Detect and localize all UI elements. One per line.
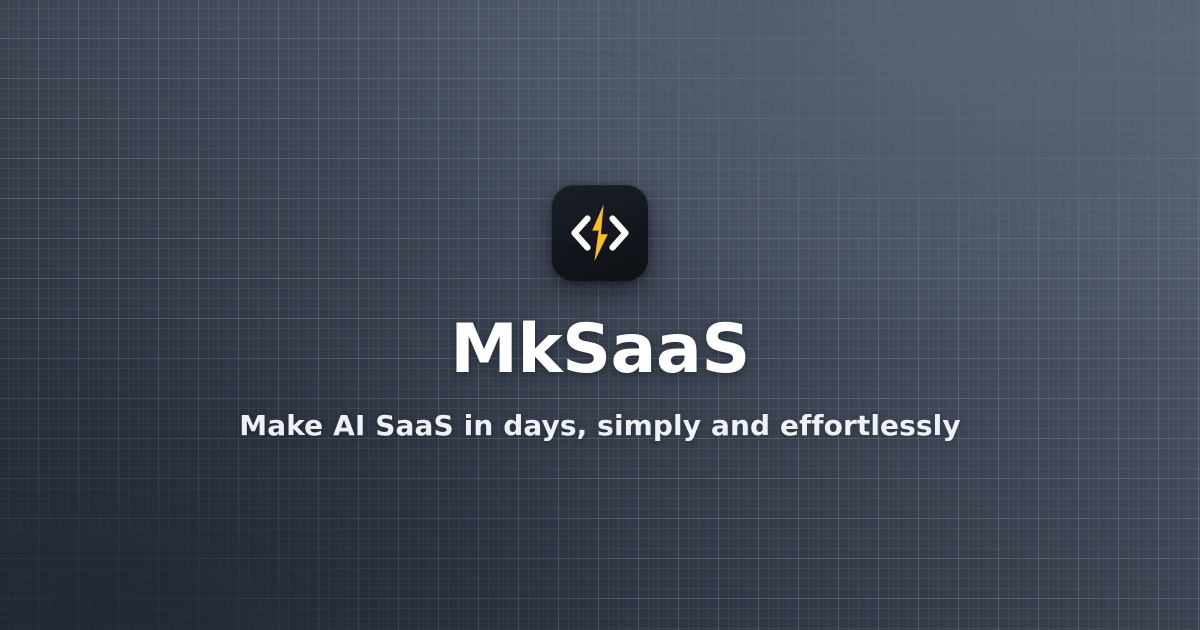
page-title: MkSaaS: [450, 315, 750, 386]
code-brackets-lightning-bolt-logo-icon: [563, 196, 637, 270]
brand-logo-tile: [552, 185, 648, 281]
og-image-canvas: MkSaaS Make AI SaaS in days, simply and …: [0, 0, 1200, 630]
page-tagline: Make AI SaaS in days, simply and effortl…: [239, 408, 960, 444]
banner-content: MkSaaS Make AI SaaS in days, simply and …: [0, 0, 1200, 630]
